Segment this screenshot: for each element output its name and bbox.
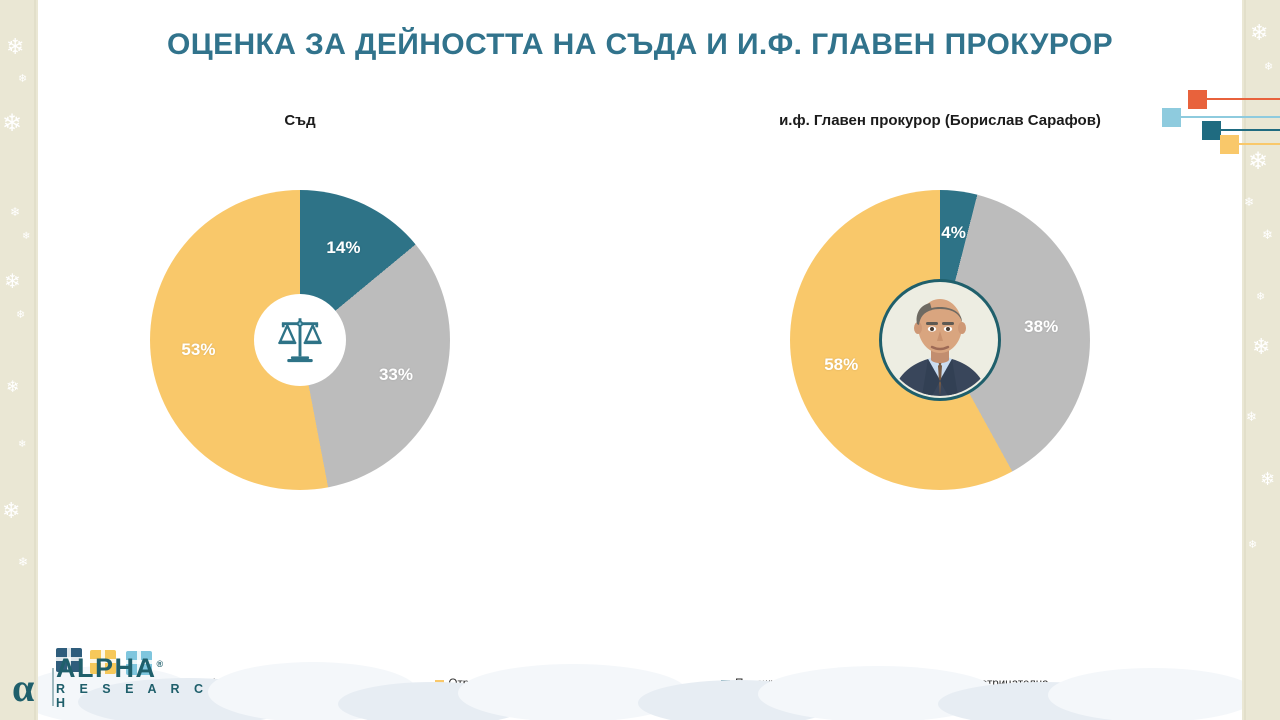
deco-line-teal: [1221, 129, 1280, 131]
snowflake-icon: ❄: [1248, 540, 1257, 551]
chart-title-court: Съд: [20, 110, 580, 132]
center-badge-prosecutor: [879, 279, 1001, 401]
logo-name-text: ALPHA: [56, 653, 157, 683]
snowflake-icon: ❄: [1262, 228, 1273, 241]
scales-of-justice-icon: [271, 311, 329, 369]
snowflake-icon: ❄: [1246, 410, 1257, 423]
pie-chart-prosecutor: 4% 38% 58%: [790, 190, 1090, 490]
slice-label-positive: 14%: [326, 238, 360, 258]
snowflake-icon: ❄: [18, 74, 27, 85]
deco-line-orange: [1207, 98, 1280, 100]
page-title: ОЦЕНКА ЗА ДЕЙНОСТТА НА СЪДА И И.Ф. ГЛАВЕ…: [0, 28, 1280, 62]
portrait-photo: [884, 284, 996, 396]
snowflake-icon: ❄: [1244, 196, 1254, 208]
slide-canvas: ❄ ❄ ❄ ❄ ❄ ❄ ❄ ❄ ❄ ❄ ❄ ❄ ❄ ❄ ❄ ❄ ❄ ❄ ❄ ❄ …: [0, 0, 1280, 720]
chart-panel-court: Съд 14% 33% 53%: [20, 110, 580, 610]
deco-square-orange: [1188, 90, 1207, 109]
slice-label-neutral: 38%: [1024, 317, 1058, 337]
snow-blob: [1048, 668, 1242, 720]
logo-divider: [52, 668, 54, 706]
chart-panel-prosecutor: и.ф. Главен прокурор (Борислав Сарафов) …: [660, 110, 1220, 610]
pie-chart-court: 14% 33% 53%: [150, 190, 450, 490]
slice-label-negative: 58%: [824, 355, 858, 375]
registered-mark: ®: [157, 659, 165, 669]
snowflake-icon: ❄: [1260, 470, 1275, 488]
center-badge-court: [254, 294, 346, 386]
brand-logo[interactable]: α ALPHA® R E S E A R C H: [10, 648, 210, 714]
slice-label-negative: 53%: [181, 340, 215, 360]
snowflake-icon: ❄: [4, 272, 21, 292]
chart-title-prosecutor: и.ф. Главен прокурор (Борислав Сарафов): [660, 110, 1220, 132]
slice-label-neutral: 33%: [379, 365, 413, 385]
alpha-symbol-icon: α: [12, 668, 34, 708]
deco-line-yellow: [1239, 143, 1280, 145]
logo-wordmark: ALPHA® R E S E A R C H: [56, 651, 210, 710]
snowflake-icon: ❄: [2, 500, 20, 522]
deco-square-yellow: [1220, 135, 1239, 154]
snowflake-icon: ❄: [6, 380, 19, 396]
slice-label-positive: 4%: [941, 223, 966, 243]
snow-drift-decoration: [38, 648, 1242, 720]
snowflake-icon: ❄: [1252, 336, 1270, 358]
logo-name: ALPHA®: [56, 651, 210, 682]
snowflake-icon: ❄: [1264, 62, 1273, 73]
snowflake-icon: ❄: [1256, 292, 1265, 303]
logo-subtitle: R E S E A R C H: [56, 682, 210, 710]
snowflake-icon: ❄: [10, 206, 20, 218]
